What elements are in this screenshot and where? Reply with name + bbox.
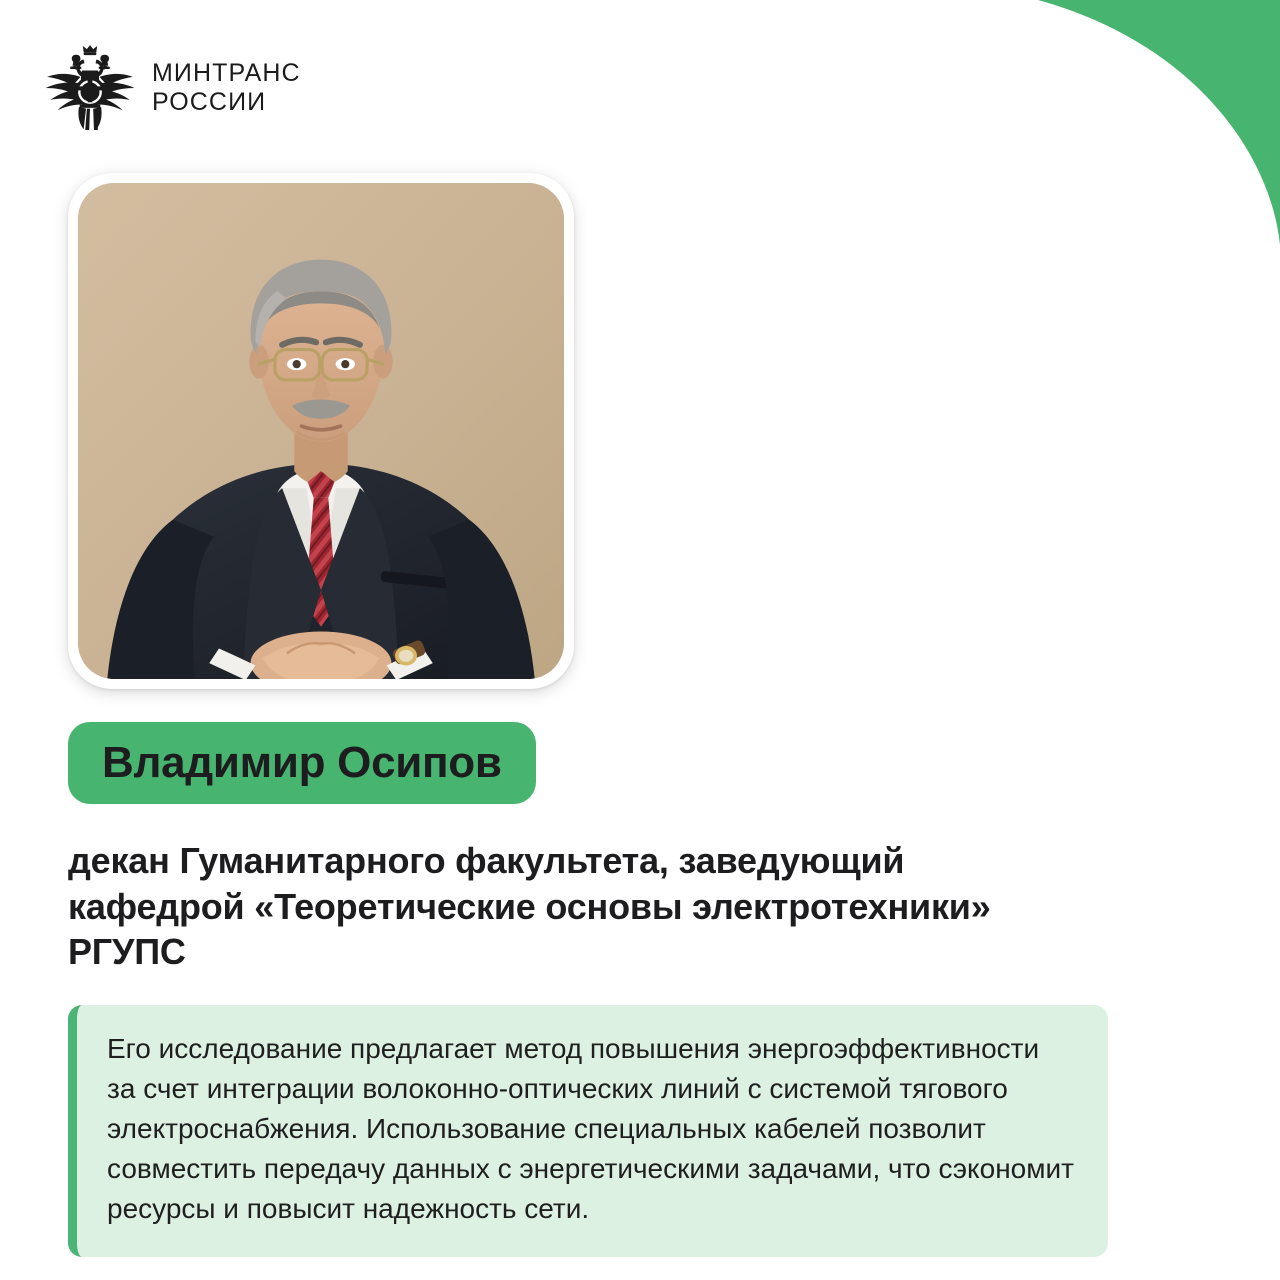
brand-line-2: РОССИИ (152, 88, 301, 117)
person-role: декан Гуманитарного факультета, заведующ… (68, 838, 1078, 975)
quote-text: Его исследование предлагает метод повыше… (107, 1029, 1074, 1229)
russian-double-headed-eagle-emblem-icon (42, 42, 138, 134)
brand-lockup: МИНТРАНС РОССИИ (42, 42, 301, 134)
person-name: Владимир Осипов (102, 738, 502, 788)
person-name-badge: Владимир Осипов (68, 722, 536, 804)
brand-wordmark: МИНТРАНС РОССИИ (152, 59, 301, 117)
brand-line-1: МИНТРАНС (152, 59, 301, 88)
quote-box: Его исследование предлагает метод повыше… (68, 1005, 1108, 1257)
portrait-photo (78, 183, 564, 679)
info-card: МИНТРАНС РОССИИ (0, 0, 1280, 1280)
green-corner-swoosh-icon (1020, 0, 1280, 260)
portrait-frame (68, 173, 574, 689)
